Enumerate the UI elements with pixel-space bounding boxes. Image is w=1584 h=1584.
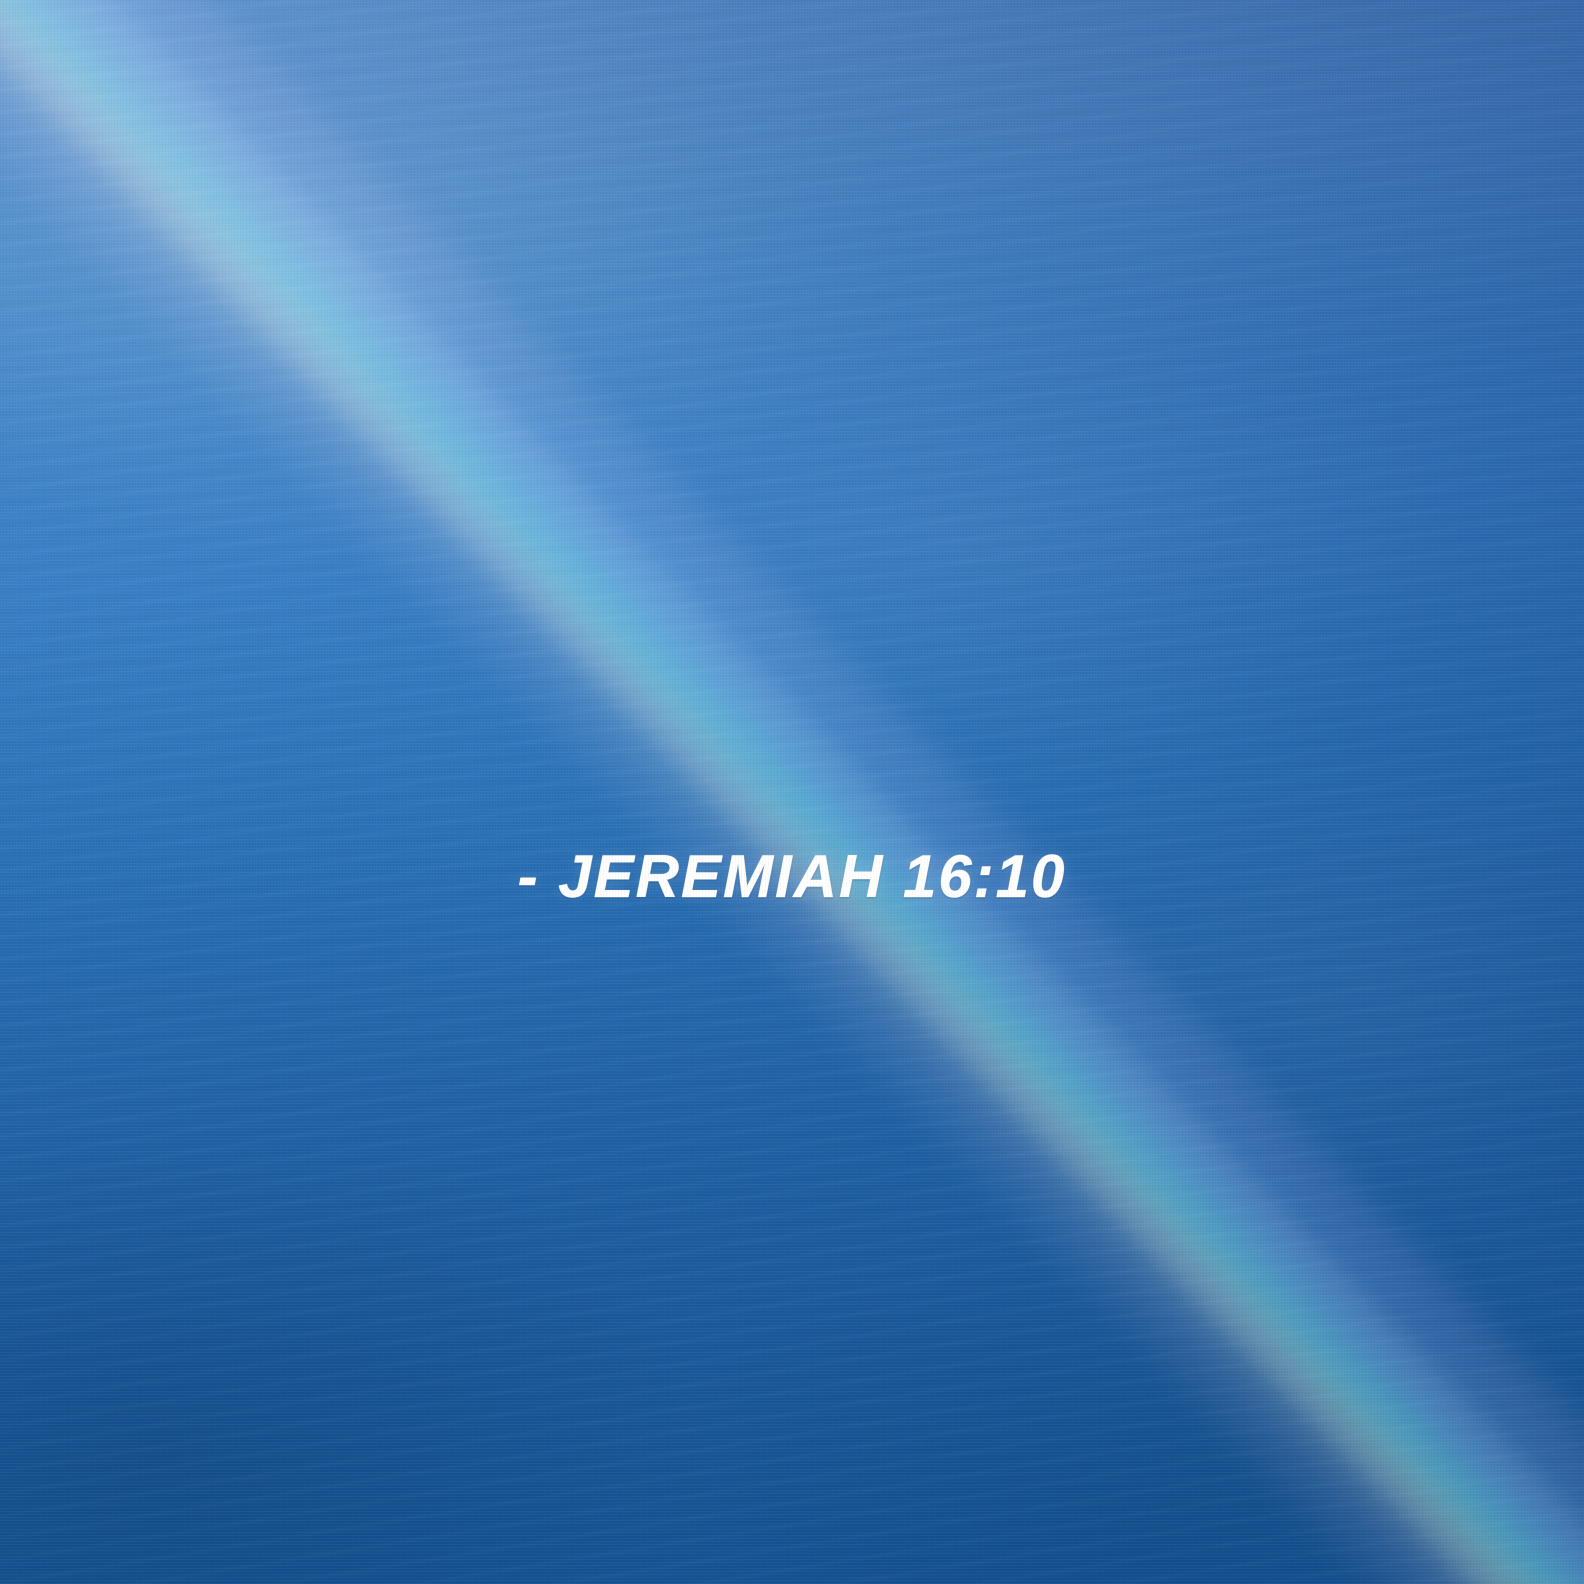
verse-text-block: WHEN YOU TELL THESE PEOPLE ALL THESE THI…: [0, 132, 1584, 822]
verse-line-1: WHEN YOU TELL THESE PEOPLE ALL THESE: [120, 132, 1464, 247]
verse-line-4: DISASTER AGAINST US? WHAT IS OUR: [120, 477, 1464, 592]
verse-line-3: LORD PRONOUNCED ALL THIS GREAT: [120, 362, 1464, 477]
verse-line-5: GUILT? WHAT IS THE SIN THAT WE HAVE: [120, 592, 1464, 707]
verse-image-canvas: WHEN YOU TELL THESE PEOPLE ALL THESE THI…: [0, 0, 1584, 1584]
verse-attribution: - JEREMIAH 16:10: [0, 842, 1584, 911]
verse-line-6: COMMITTED AGAINST THE LORD OUR GOD?’: [120, 707, 1464, 822]
verse-line-2: THINGS, THEY WILL ASK YOU, ‘WHY HAS THE: [120, 247, 1464, 362]
